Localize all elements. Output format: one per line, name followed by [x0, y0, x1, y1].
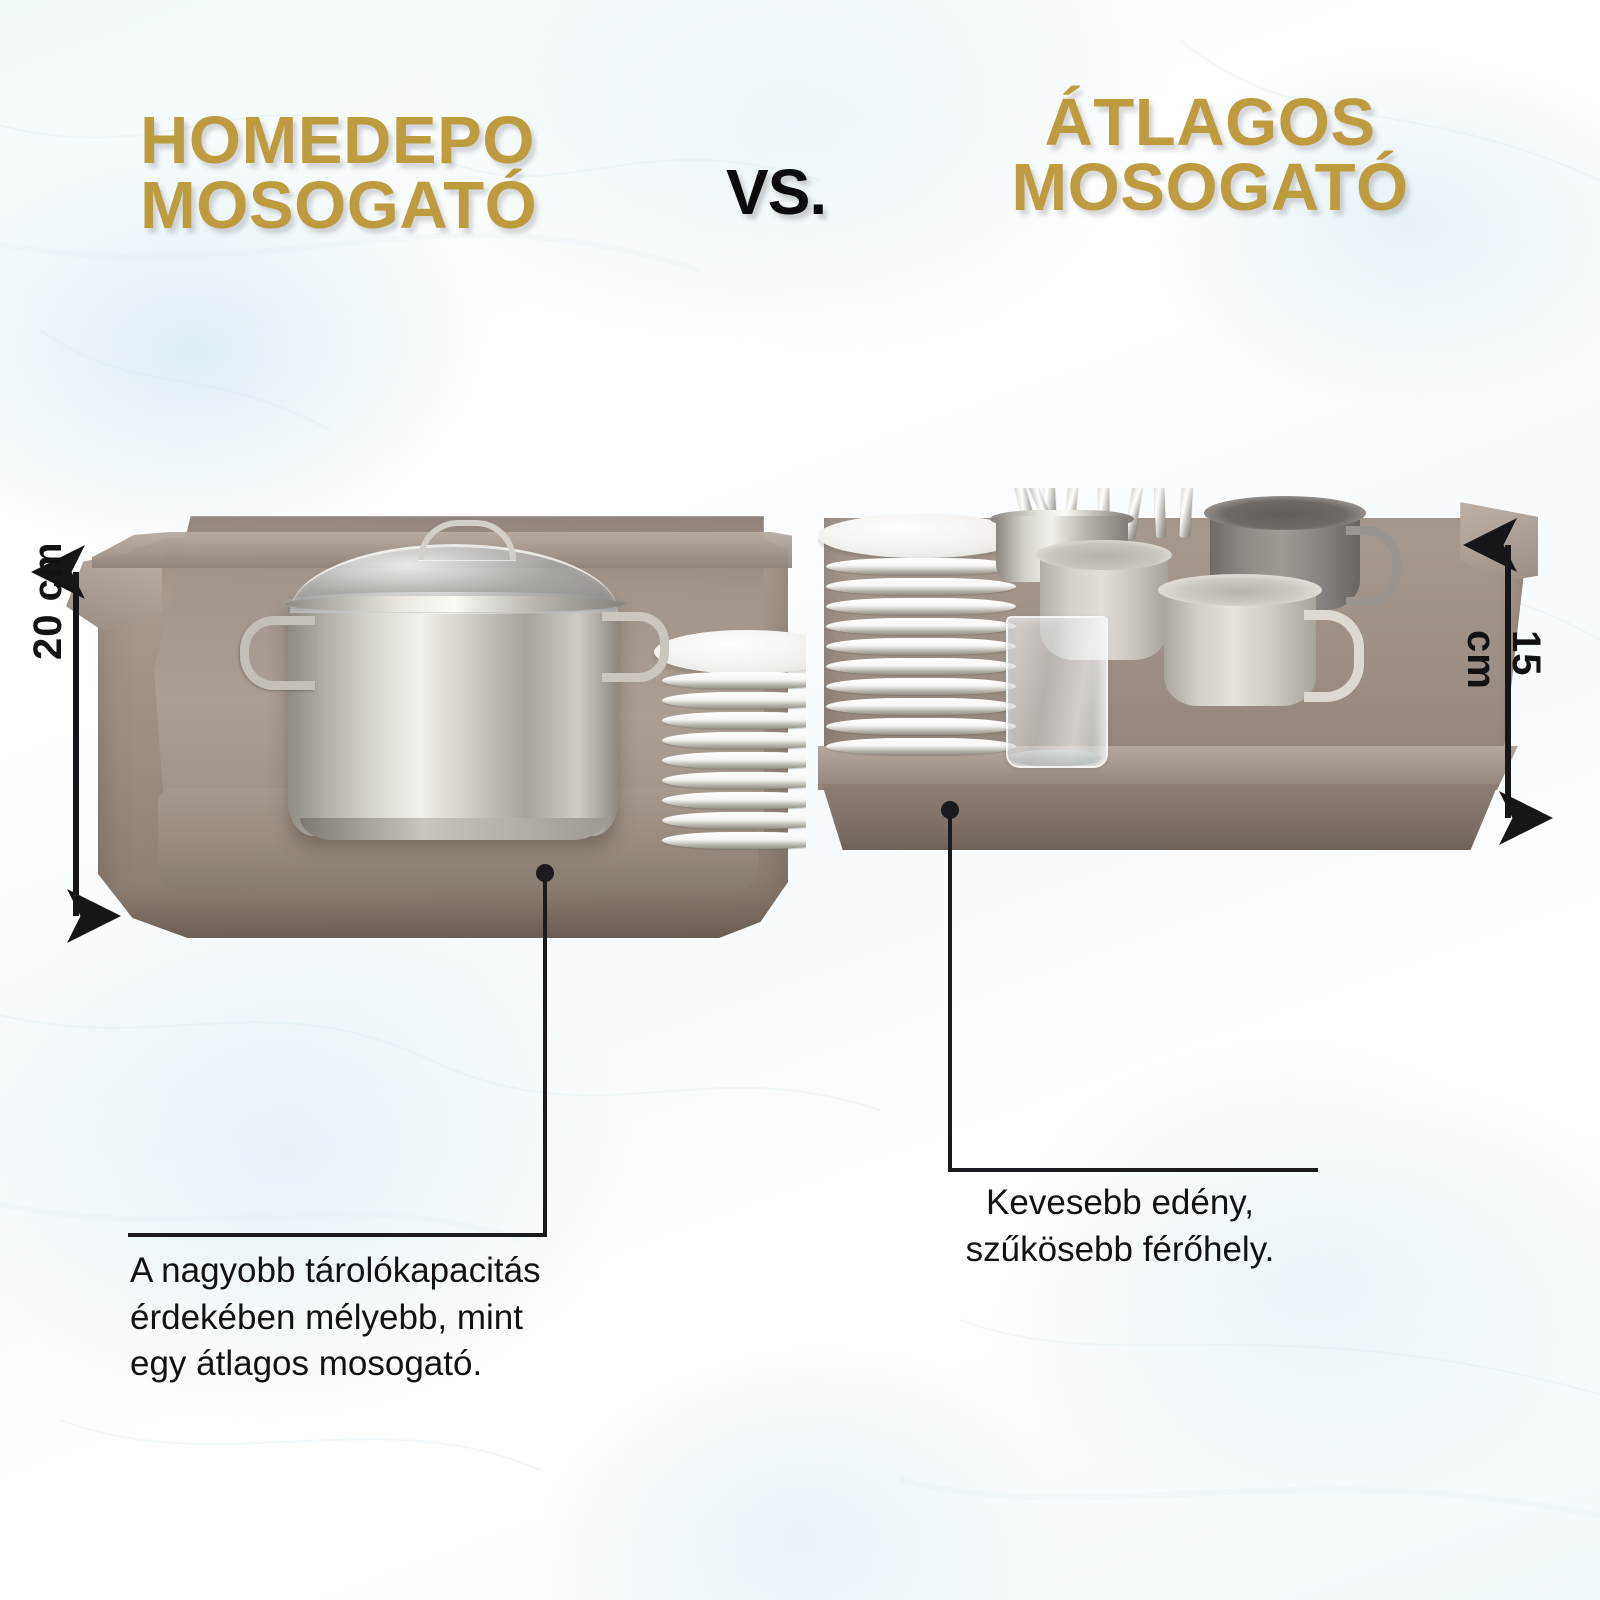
lid-metal-band: [284, 596, 624, 612]
stock-pot-base: [300, 818, 606, 840]
plate: [826, 618, 1016, 635]
plate: [826, 598, 1016, 615]
plate: [662, 812, 806, 829]
plate: [662, 732, 806, 749]
plate: [826, 558, 1016, 575]
light-mug-front-handle: [1304, 610, 1364, 702]
plate: [826, 718, 1016, 735]
pot-handle-right: [602, 612, 669, 682]
plate: [826, 698, 1016, 715]
plate: [826, 658, 1016, 675]
stock-pot-body: [288, 600, 618, 836]
drinking-glass: [1006, 616, 1108, 768]
plate: [826, 738, 1016, 755]
right-sink-photo: [818, 488, 1538, 948]
pot-handle-left: [240, 616, 315, 690]
plate: [826, 678, 1016, 695]
dimension-label-right: 15 cm: [1458, 630, 1548, 690]
plate-top: [654, 630, 806, 674]
left-sink-photo: [62, 488, 806, 948]
plate-stack-right-panel: [826, 528, 1016, 754]
plate: [826, 638, 1016, 655]
vs-label: VS.: [726, 155, 826, 229]
dimension-label-left: 20 cm: [26, 542, 71, 660]
grey-mug-handle: [1346, 526, 1401, 606]
plate: [662, 692, 806, 709]
plate: [662, 832, 806, 849]
light-mug-back-rim: [1036, 540, 1172, 570]
grey-mug-rim: [1204, 496, 1366, 530]
drinking-glass-base: [1008, 750, 1102, 766]
plate: [826, 578, 1016, 595]
sink-front-apron: [822, 784, 1512, 850]
light-mug-front-rim: [1158, 574, 1322, 606]
plate: [662, 712, 806, 729]
plate: [662, 772, 806, 789]
heading-right: ÁTLAGOS MOSOGATÓ: [975, 90, 1445, 220]
right-photo-inner: [818, 488, 1538, 948]
plate-stack-left-panel: [662, 644, 806, 850]
callout-text-right: Kevesebb edény, szűkösebb férőhely.: [920, 1180, 1320, 1273]
left-photo-inner: [62, 488, 806, 948]
plate: [662, 752, 806, 769]
infographic-canvas: HOMEDEPO MOSOGATÓ VS. ÁTLAGOS MOSOGATÓ: [0, 0, 1600, 1600]
heading-left: HOMEDEPO MOSOGATÓ: [140, 108, 537, 238]
plate: [662, 792, 806, 809]
callout-text-left: A nagyobb tárolókapacitás érdekében mély…: [130, 1248, 541, 1388]
plate: [662, 672, 806, 689]
